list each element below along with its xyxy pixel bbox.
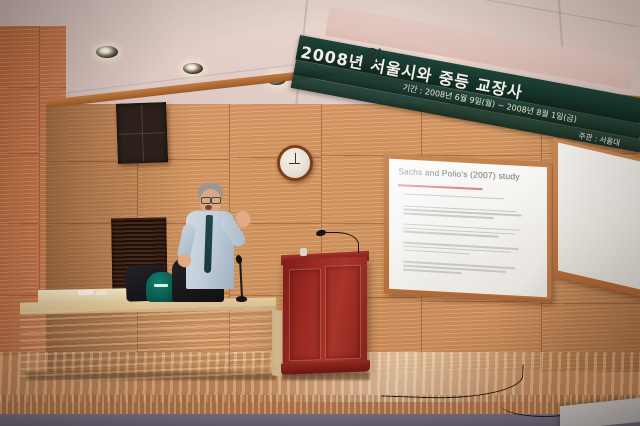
wall-panel [322, 104, 422, 156]
ceiling-speaker-panel-icon [116, 102, 168, 164]
wall-panel [0, 88, 40, 154]
paper-sheet [78, 290, 93, 296]
podium-front-panel [289, 268, 321, 361]
presentation-slide: Sachs and Polio's (2007) study [389, 159, 551, 300]
wall-panel [0, 154, 40, 224]
paper-sheet [96, 291, 107, 295]
lecture-hall-photo: 2008년 서울시와 중등 교장사 기간 : 2008년 6월 9일(월) ~ … [0, 0, 640, 426]
projection-screen: Sachs and Polio's (2007) study [389, 159, 547, 298]
presenter-glasses-icon [201, 197, 211, 204]
presenter-glasses-icon [211, 197, 221, 204]
podium-front-panel [325, 265, 361, 360]
wall-panel [0, 224, 40, 296]
presenter-mouth [205, 205, 212, 210]
second-projection-screen [558, 143, 640, 290]
screen-glare [389, 159, 551, 300]
downlight-icon [96, 46, 118, 58]
backpack-logo [154, 284, 168, 287]
wall-panel [40, 26, 66, 88]
wall-panel [0, 26, 40, 88]
wall-clock-icon [277, 145, 313, 181]
table-front-panel [20, 306, 276, 382]
downlight-icon [183, 63, 203, 74]
podium-body [283, 256, 367, 371]
podium-lamp [300, 248, 307, 256]
